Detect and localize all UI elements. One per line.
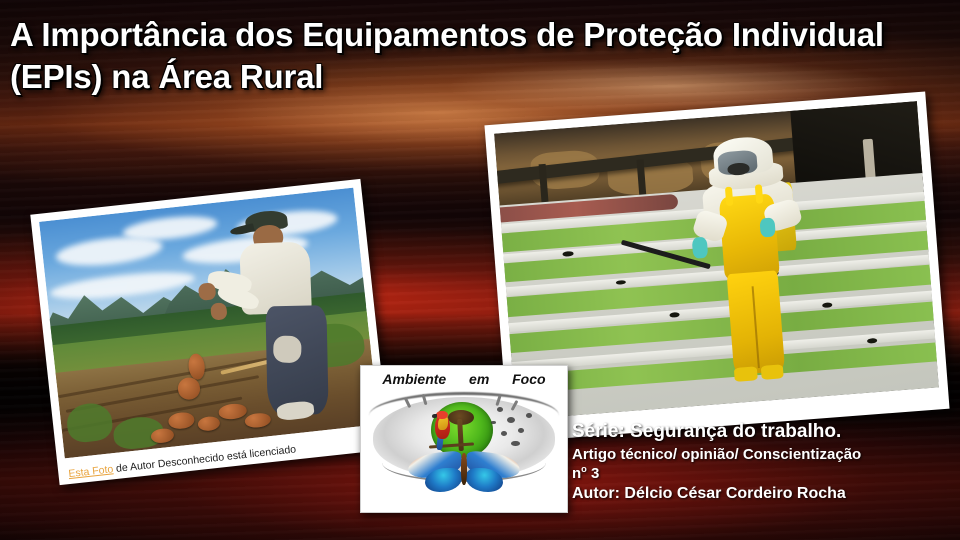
ppe-glove <box>760 217 777 237</box>
photo-attribution-link[interactable]: Esta Foto <box>68 463 114 480</box>
butterfly-lower-wing <box>425 468 462 492</box>
speck <box>518 428 524 433</box>
logo-word-ambiente: Ambiente <box>382 371 446 387</box>
caption-subtitle: Artigo técnico/ opinião/ Conscientização <box>572 446 958 464</box>
logo-word-em: em <box>469 371 489 387</box>
caption-author: Autor: Délcio César Cordeiro Rocha <box>572 484 958 505</box>
photo-farmer-harvesting[interactable]: Esta Foto de Autor Desconhecido está lic… <box>30 179 389 485</box>
caption-number: no 3 <box>572 464 958 483</box>
ppe-boot <box>734 366 757 382</box>
slide-title: A Importância dos Equipamentos de Proteç… <box>10 14 954 98</box>
caption-series: Série: Segurança do trabalho. <box>572 420 958 444</box>
speck <box>491 421 496 425</box>
eye-illustration <box>361 390 567 512</box>
farmer-bare-hand <box>210 302 228 320</box>
speck <box>511 441 519 446</box>
parrot-beak <box>432 414 437 418</box>
caption-block: Série: Segurança do trabalho. Artigo téc… <box>572 420 958 505</box>
presentation-slide: A Importância dos Equipamentos de Proteç… <box>0 0 960 540</box>
caption-number-prefix: n <box>572 465 581 482</box>
caption-number-value: 3 <box>591 465 599 482</box>
farmer-bare-hand <box>198 282 216 300</box>
ppe-glove <box>692 237 709 259</box>
farmer-figure <box>198 204 359 427</box>
logo-word-foco: Foco <box>512 371 545 387</box>
speck <box>497 407 503 412</box>
logo-title: Ambiente em Foco <box>361 371 567 387</box>
butterfly-body <box>461 453 467 485</box>
ppe-boot <box>761 364 784 380</box>
speck <box>526 413 532 418</box>
apron-strap <box>724 187 733 207</box>
logo-ambiente-em-foco[interactable]: Ambiente em Foco <box>360 365 568 513</box>
farmer-knee-patch <box>273 335 302 363</box>
caption-number-sup: o <box>581 464 587 474</box>
parrot-head <box>436 411 447 420</box>
ppe-worker-figure <box>690 134 810 382</box>
photo-farmer-image <box>39 188 379 459</box>
